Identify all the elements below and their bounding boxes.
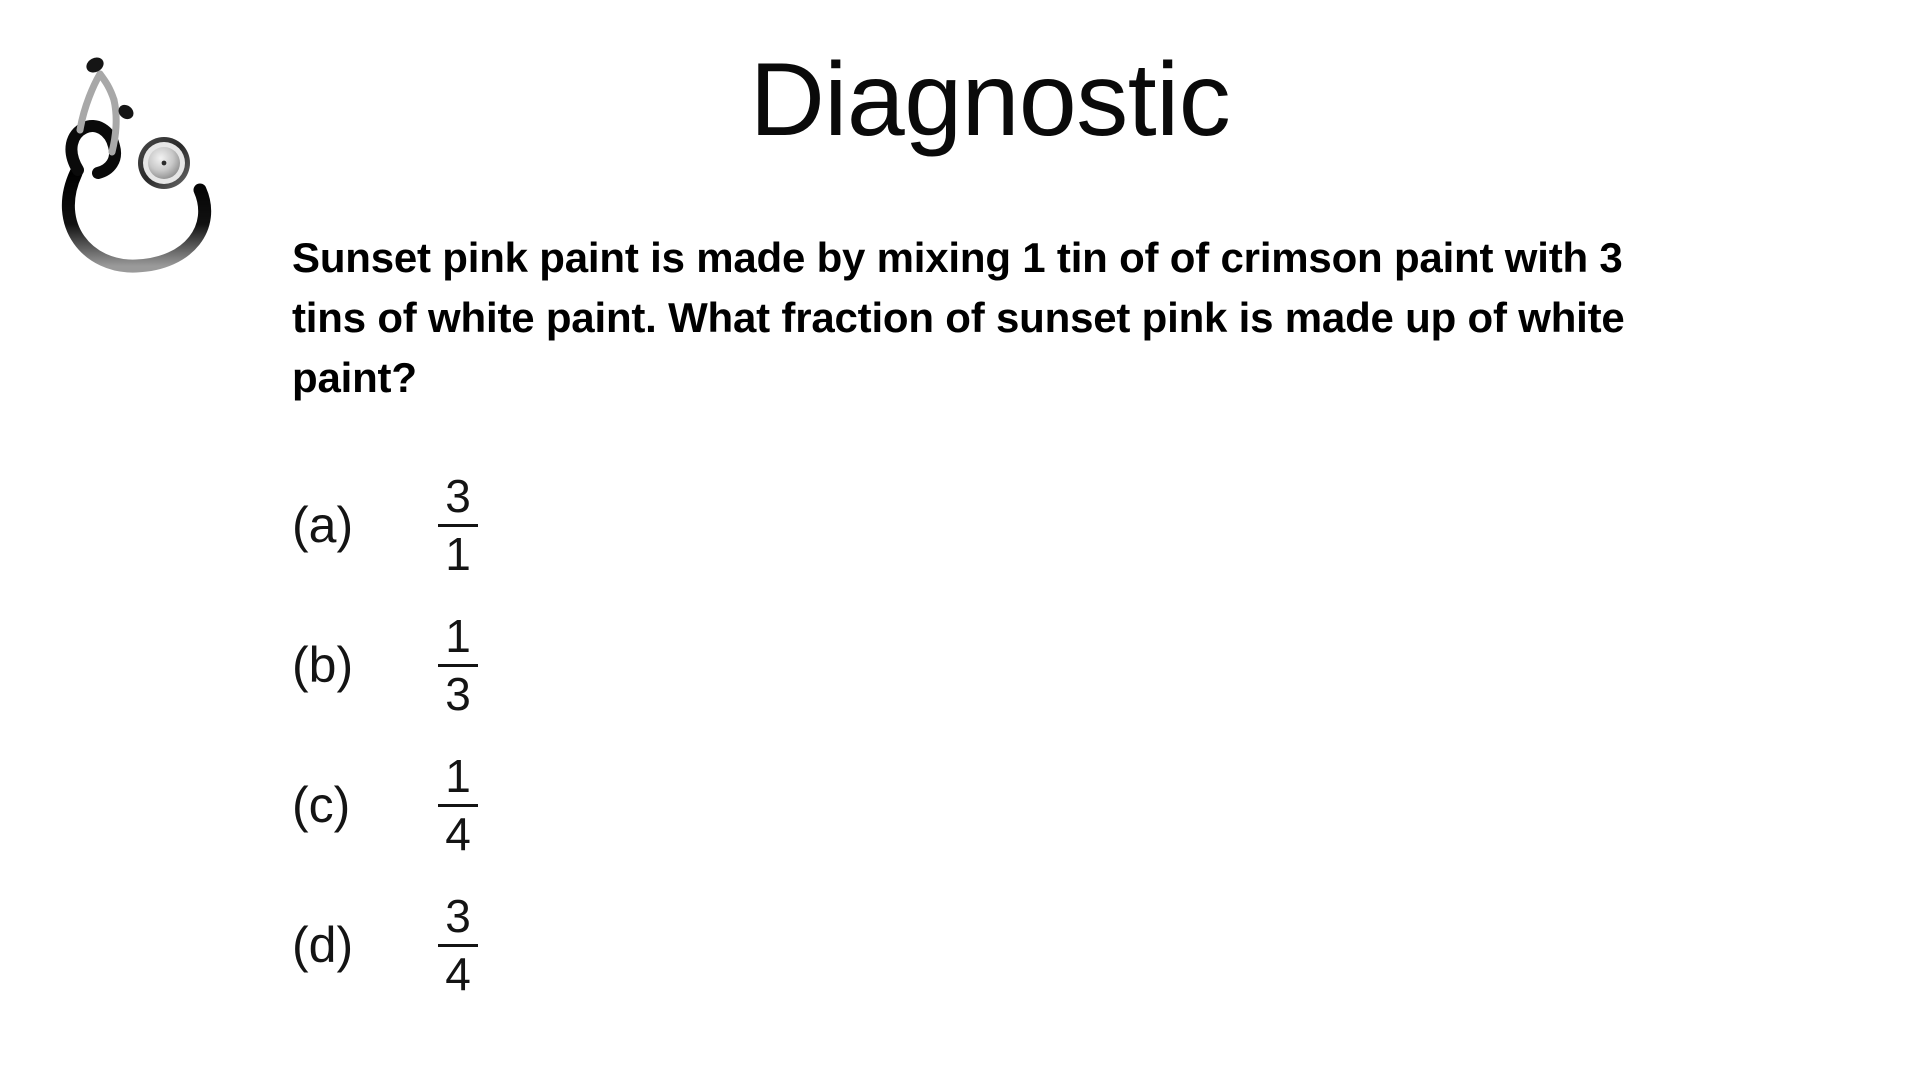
option-b-fraction: 1 3	[434, 613, 482, 718]
option-a-label: (a)	[292, 500, 412, 550]
option-c-fraction: 1 4	[434, 753, 482, 858]
option-d-numerator: 3	[439, 893, 477, 940]
option-a-fraction: 3 1	[434, 473, 482, 578]
option-b-denominator: 3	[439, 671, 477, 718]
fraction-bar	[438, 664, 478, 667]
option-b-label: (b)	[292, 640, 412, 690]
option-a-denominator: 1	[439, 531, 477, 578]
option-a-numerator: 3	[439, 473, 477, 520]
option-d-label: (d)	[292, 920, 412, 970]
slide-canvas: Diagnostic Sunset pink paint is made by …	[0, 0, 1920, 1080]
option-d-fraction: 3 4	[434, 893, 482, 998]
page-title: Diagnostic	[0, 48, 1920, 152]
fraction-bar	[438, 524, 478, 527]
option-c-label: (c)	[292, 780, 412, 830]
option-c-numerator: 1	[439, 753, 477, 800]
option-b-numerator: 1	[439, 613, 477, 660]
option-d[interactable]: (d) 3 4	[292, 875, 1192, 1015]
fraction-bar	[438, 804, 478, 807]
option-c[interactable]: (c) 1 4	[292, 735, 1192, 875]
fraction-bar	[438, 944, 478, 947]
option-d-denominator: 4	[439, 951, 477, 998]
answer-options-list: (a) 3 1 (b) 1 3 (c) 1 4 (d)	[292, 455, 1192, 1015]
question-text: Sunset pink paint is made by mixing 1 ti…	[292, 228, 1652, 408]
option-b[interactable]: (b) 1 3	[292, 595, 1192, 735]
option-a[interactable]: (a) 3 1	[292, 455, 1192, 595]
option-c-denominator: 4	[439, 811, 477, 858]
